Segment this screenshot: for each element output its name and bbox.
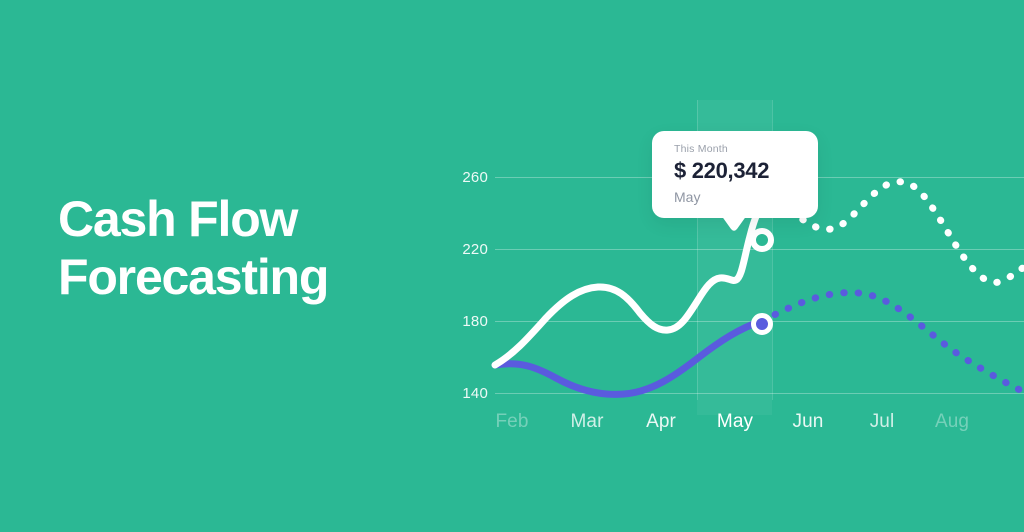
x-tick-label-aug[interactable]: Aug [935, 410, 969, 434]
x-tick-label-mar[interactable]: Mar [570, 410, 603, 434]
tooltip-amount: $ 220,342 [674, 157, 769, 184]
x-tick-label-jul[interactable]: Jul [870, 410, 895, 434]
tooltip-caption: This Month [674, 143, 728, 155]
y-tick-label-180: 180 [442, 314, 488, 329]
x-tick-label-feb[interactable]: Feb [495, 410, 528, 434]
marker-projection-may[interactable] [754, 316, 771, 333]
y-tick-label-140: 140 [442, 386, 488, 401]
page-title: Cash Flow Forecasting [58, 190, 458, 306]
x-tick-label-apr[interactable]: Apr [646, 410, 676, 434]
tooltip-tail-icon [721, 215, 747, 232]
x-tick-label-may[interactable]: May [717, 410, 753, 434]
cash-flow-forecasting-banner: Cash Flow Forecasting [0, 0, 1024, 532]
tooltip-month: May [674, 189, 700, 206]
x-tick-label-jun[interactable]: Jun [793, 410, 824, 434]
x-axis: Feb Mar Apr May Jun Jul Aug [440, 410, 1024, 444]
y-tick-label-260: 260 [442, 170, 488, 185]
y-axis: 260 220 180 140 [440, 100, 488, 460]
projection-forecast-line [762, 293, 1024, 392]
value-tooltip: This Month $ 220,342 May [652, 131, 818, 218]
y-tick-label-220: 220 [442, 242, 488, 257]
marker-cash-flow-may[interactable] [753, 231, 771, 249]
